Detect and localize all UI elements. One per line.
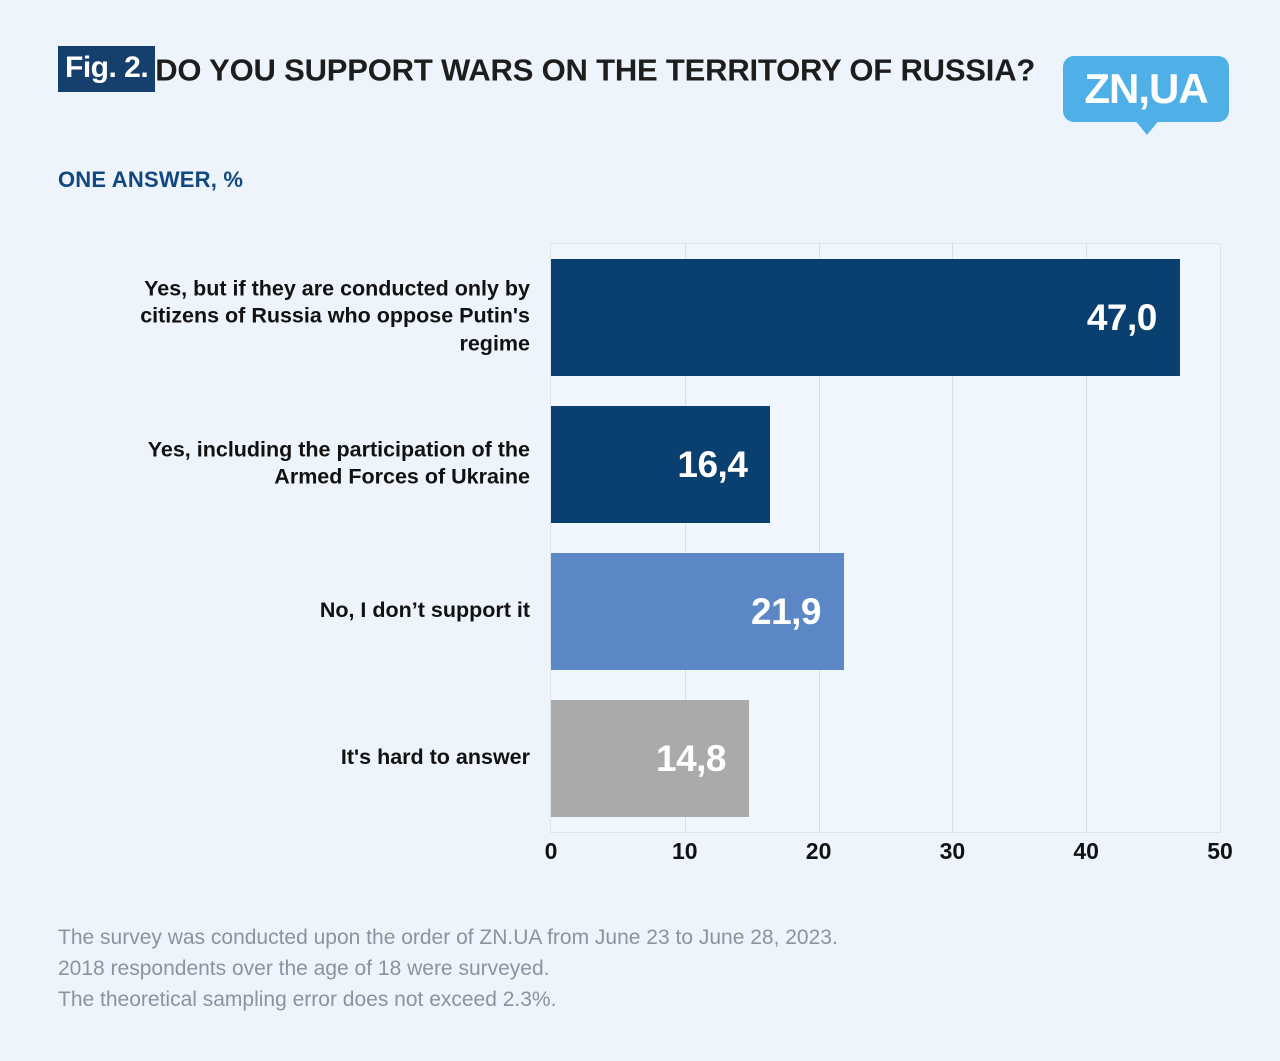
chart-subtitle: ONE ANSWER, % xyxy=(58,167,243,193)
x-axis-tick: 30 xyxy=(940,838,966,865)
bar-value-label: 14,8 xyxy=(656,740,749,777)
figure-number-badge: Fig. 2. xyxy=(58,46,155,92)
page-title-text: DO YOU SUPPORT WARS ON THE TERRITORY OF … xyxy=(155,53,1035,88)
bar[interactable]: 21,9 xyxy=(551,553,844,670)
category-label: No, I don’t support it xyxy=(120,597,530,625)
x-axis-tick: 20 xyxy=(806,838,832,865)
category-label: It's hard to answer xyxy=(120,744,530,772)
znua-logo: ZN,UA xyxy=(1063,56,1229,122)
category-label: Yes, including the participation of the … xyxy=(120,436,530,491)
bar[interactable]: 47,0 xyxy=(551,259,1180,376)
category-label: Yes, but if they are conducted only by c… xyxy=(120,275,530,358)
category-labels: Yes, but if they are conducted only by c… xyxy=(120,243,530,833)
bar[interactable]: 16,4 xyxy=(551,406,770,523)
bar-value-label: 16,4 xyxy=(677,446,770,483)
x-axis-tick: 0 xyxy=(545,838,558,865)
bar-value-label: 47,0 xyxy=(1087,299,1180,336)
bar-chart: Yes, but if they are conducted only by c… xyxy=(0,243,1280,843)
page-title: Fig. 2.DO YOU SUPPORT WARS ON THE TERRIT… xyxy=(58,48,1048,94)
footnote-line: The survey was conducted upon the order … xyxy=(58,922,1158,953)
bar-value-label: 21,9 xyxy=(751,593,844,630)
footnote-line: The theoretical sampling error does not … xyxy=(58,984,1158,1015)
logo-text: ZN,UA xyxy=(1084,68,1207,110)
logo-box: ZN,UA xyxy=(1063,56,1229,122)
x-axis-tick: 10 xyxy=(672,838,698,865)
footnote: The survey was conducted upon the order … xyxy=(58,922,1158,1015)
plot-area: 47,0 16,4 21,9 14,8 xyxy=(550,243,1221,833)
x-axis: 0 10 20 30 40 50 xyxy=(550,838,1221,878)
bar[interactable]: 14,8 xyxy=(551,700,749,817)
footnote-line: 2018 respondents over the age of 18 were… xyxy=(58,953,1158,984)
x-axis-tick: 40 xyxy=(1073,838,1099,865)
header: Fig. 2.DO YOU SUPPORT WARS ON THE TERRIT… xyxy=(58,48,1228,94)
x-axis-tick: 50 xyxy=(1207,838,1233,865)
